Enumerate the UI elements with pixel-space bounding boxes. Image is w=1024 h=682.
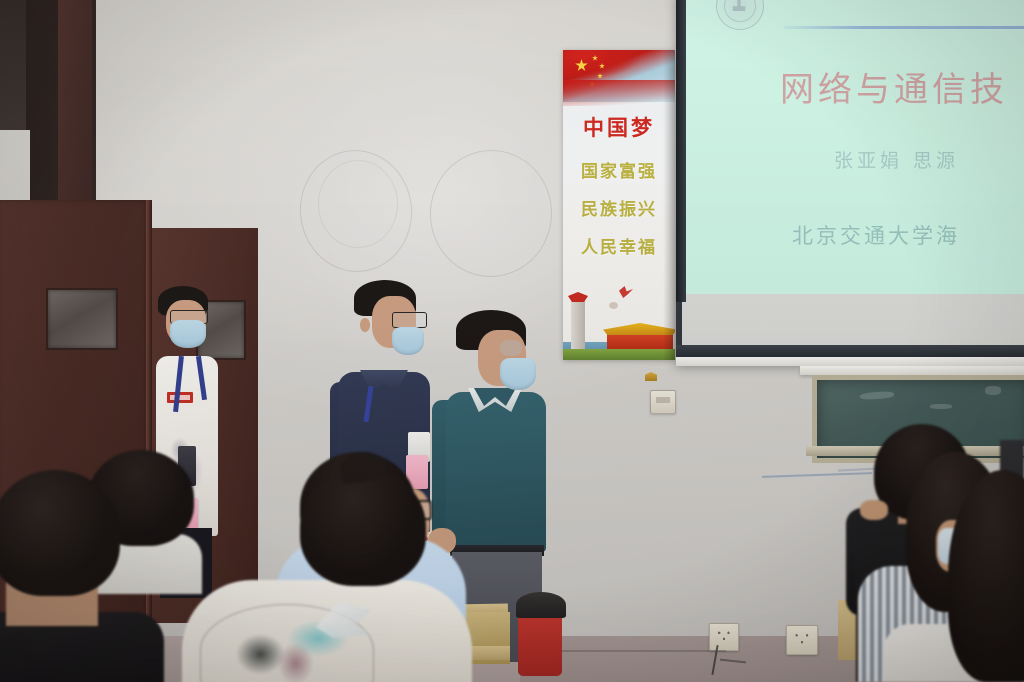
hand	[860, 500, 888, 520]
cloud-icon	[609, 302, 618, 309]
poster-line-3: 人民幸福	[563, 233, 675, 258]
flag-star-icon	[599, 63, 605, 69]
poster-headline: 中国梦	[563, 112, 675, 142]
glasses-icon	[392, 312, 427, 328]
red-trash-bin	[518, 612, 562, 676]
slide-organization: 北京交通大学海	[792, 220, 960, 250]
flag-star-icon	[592, 55, 598, 61]
face-mask	[170, 320, 206, 348]
teal-polo-shirt	[446, 392, 546, 552]
wall-residue-mark	[318, 160, 398, 248]
monument-to-the-peoples-heroes	[571, 300, 585, 352]
ear	[360, 318, 370, 332]
poster-shadow	[663, 50, 675, 360]
poster-line-1: 国家富强	[563, 157, 675, 182]
slide-title: 网络与通信技	[780, 62, 1008, 111]
propaganda-poster: 中国梦 国家富强 民族振兴 人民幸福	[563, 50, 675, 360]
head	[300, 468, 426, 586]
classroom-photo: 中国梦 国家富强 民族振兴 人民幸福 网络与通信技 张亚娟 思源 北京交通大学海	[0, 0, 1024, 682]
slide-divider-line	[784, 26, 1024, 29]
door-jamb	[58, 0, 92, 205]
poster-foliage-strip	[563, 349, 675, 360]
floor-cable	[546, 650, 726, 652]
chalk-smudge	[930, 404, 952, 409]
wall-switch-plate[interactable]	[650, 390, 676, 414]
chalkboard-top-rail	[800, 366, 1024, 375]
dove-icon	[619, 286, 633, 298]
screen-left-shadow	[676, 0, 686, 302]
poster-line-2: 民族振兴	[563, 195, 675, 220]
slide-author: 张亚娟 思源	[834, 146, 959, 173]
flag-star-icon	[589, 81, 595, 87]
face-mask	[500, 358, 536, 390]
presentation-slide: 网络与通信技 张亚娟 思源 北京交通大学海	[684, 0, 1024, 294]
trash-bag	[516, 592, 566, 618]
screen-roller-housing	[676, 357, 1024, 366]
door-gap-shadow	[0, 0, 26, 150]
chinese-flag-graphic	[563, 50, 675, 102]
university-seal-watermark	[716, 0, 764, 30]
wall-socket-right[interactable]	[786, 625, 818, 655]
chalk-smudge	[985, 386, 1001, 395]
flag-star-icon	[597, 73, 603, 79]
head	[0, 470, 120, 596]
door-viewing-window	[46, 288, 118, 350]
socket-holes-icon	[793, 632, 811, 647]
graying-temple	[500, 340, 522, 356]
wall-socket-left[interactable]	[709, 623, 739, 651]
socket-holes-icon	[716, 630, 732, 643]
flag-star-icon	[575, 59, 588, 72]
face-mask	[392, 327, 424, 355]
